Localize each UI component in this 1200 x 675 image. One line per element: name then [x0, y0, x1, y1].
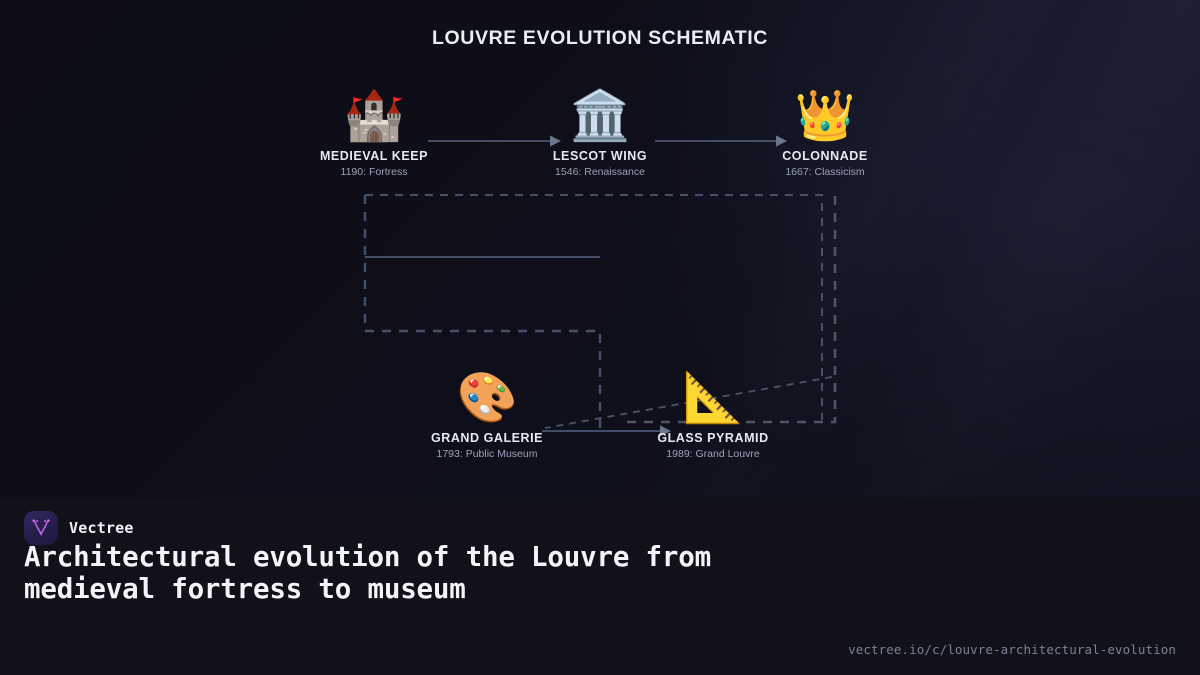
node-colonnade[interactable]: 👑 COLONNADE 1667: Classicism [715, 88, 935, 178]
share-url: vectree.io/c/louvre-architectural-evolut… [848, 642, 1176, 657]
footer-panel: Vectree Architectural evolution of the L… [0, 498, 1200, 675]
node-label: COLONNADE [715, 149, 935, 163]
node-sublabel: 1793: Public Museum [377, 448, 597, 460]
node-label: LESCOT WING [490, 149, 710, 163]
crown-icon: 👑 [715, 88, 935, 144]
artist-palette-icon: 🎨 [377, 370, 597, 426]
schematic-canvas: LOUVRE EVOLUTION SCHEMATIC 🏰 MEDIEVAL KE… [0, 0, 1200, 675]
node-glass-pyramid[interactable]: 📐 GLASS PYRAMID 1989: Grand Louvre [603, 370, 823, 460]
node-label: MEDIEVAL KEEP [264, 149, 484, 163]
node-grand-galerie[interactable]: 🎨 GRAND GALERIE 1793: Public Museum [377, 370, 597, 460]
castle-icon: 🏰 [264, 88, 484, 144]
triangular-ruler-icon: 📐 [603, 370, 823, 426]
caption-text: Architectural evolution of the Louvre fr… [24, 541, 784, 605]
node-lescot-wing[interactable]: 🏛️ LESCOT WING 1546: Renaissance [490, 88, 710, 178]
node-sublabel: 1989: Grand Louvre [603, 448, 823, 460]
node-sublabel: 1190: Fortress [264, 166, 484, 178]
node-medieval-keep[interactable]: 🏰 MEDIEVAL KEEP 1190: Fortress [264, 88, 484, 178]
node-sublabel: 1546: Renaissance [490, 166, 710, 178]
classical-building-icon: 🏛️ [490, 88, 710, 144]
node-label: GRAND GALERIE [377, 431, 597, 445]
node-label: GLASS PYRAMID [603, 431, 823, 445]
brand: Vectree [24, 511, 134, 545]
node-sublabel: 1667: Classicism [715, 166, 935, 178]
brand-name: Vectree [69, 519, 134, 537]
vectree-logo-icon [24, 511, 58, 545]
